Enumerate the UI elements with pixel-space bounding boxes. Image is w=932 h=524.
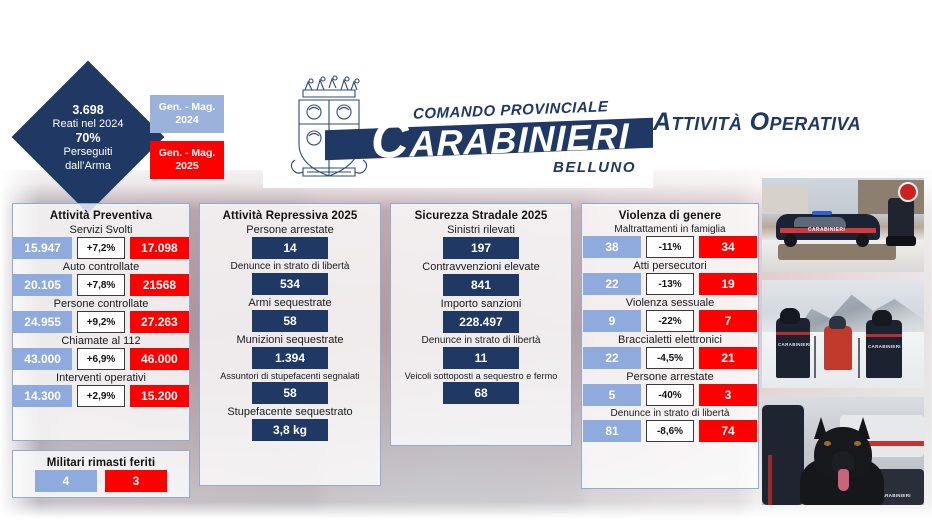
value-percent: -11% — [646, 236, 694, 258]
row-label: Auto controllate — [13, 261, 189, 273]
value-previous: 9 — [583, 310, 641, 332]
table-row: 20.105 +7,8% 21568 — [13, 274, 189, 296]
row-label: Denunce in strato di libertà — [391, 335, 571, 346]
backdrop-fade-bottom — [0, 502, 932, 524]
value-previous: 4 — [35, 470, 97, 492]
panel-attivita-repressiva: Attività Repressiva 2025 Persone arresta… — [199, 203, 381, 486]
value-current: 17.098 — [130, 237, 189, 259]
photo-dog-tongue — [838, 469, 849, 491]
value-percent: -4,5% — [646, 347, 694, 369]
logo-rest: ARABINIERI — [410, 115, 630, 164]
table-row: 22 -4,5% 21 — [582, 347, 758, 369]
value-current: 534 — [252, 273, 328, 295]
row-label: Persone controllate — [13, 298, 189, 310]
value-current: 3 — [105, 470, 167, 492]
table-row: 841 — [391, 274, 571, 296]
photo-skier-red — [824, 326, 852, 370]
table-row: 14.300 +2,9% 15.200 — [13, 385, 189, 407]
panel-militari-feriti: Militari rimasti feriti 4 3 — [12, 450, 190, 498]
legend-previous-period: Gen. - Mag. 2024 — [150, 95, 224, 133]
value-current: 14 — [252, 237, 328, 259]
table-row: 534 — [200, 273, 380, 295]
photo-officer-helmet — [872, 310, 892, 326]
value-current: 3,8 kg — [252, 419, 328, 441]
value-previous: 5 — [583, 384, 641, 406]
row-label: Maltrattamenti in famiglia — [582, 224, 758, 235]
photo-officer-stripe — [776, 332, 810, 335]
panel-violenza-di-genere: Violenza di genere Maltrattamenti in fam… — [581, 203, 759, 489]
value-current: 58 — [252, 382, 328, 404]
row-label: Violenza sessuale — [582, 297, 758, 309]
carabinieri-logo-card: COMANDO PROVINCIALE CARABINIERI BELLUNO — [263, 66, 653, 188]
value-current: 7 — [699, 310, 757, 332]
table-row: 3,8 kg — [200, 419, 380, 441]
panel-attivita-preventiva: Attività Preventiva Servizi Svolti 15.94… — [12, 203, 190, 441]
value-current: 15.200 — [130, 385, 189, 407]
value-current: 58 — [252, 310, 328, 332]
value-previous: 43.000 — [13, 348, 72, 370]
photo-jacket-tag: CARABINIERI — [868, 344, 901, 349]
row-label: Braccialetti elettronici — [582, 334, 758, 346]
row-label: Stupefacente sequestrato — [200, 406, 380, 418]
value-current: 841 — [443, 274, 519, 296]
table-row: 197 — [391, 237, 571, 259]
photo-handler-stripe — [768, 455, 772, 505]
table-row: 5 -40% 3 — [582, 384, 758, 406]
photo-car-wheel — [856, 234, 869, 247]
value-current: 74 — [699, 420, 757, 442]
value-percent: -13% — [646, 273, 694, 295]
row-label: Denunce in strato di libertà — [582, 408, 758, 419]
value-current: 46.000 — [130, 348, 189, 370]
value-percent: -8,6% — [646, 420, 694, 442]
photo-officer-left — [776, 318, 810, 378]
panel-title: Attività Repressiva 2025 — [200, 210, 380, 222]
panel-title: Violenza di genere — [582, 210, 758, 222]
table-row: 15.947 +7,2% 17.098 — [13, 237, 189, 259]
photo-officer-helmet — [780, 308, 800, 324]
table-row: 11 — [391, 347, 571, 369]
table-row: 4 3 — [13, 470, 189, 492]
photo-officer-stripe — [866, 334, 902, 337]
value-previous: 38 — [583, 236, 641, 258]
row-label: Denunce in strato di libertà — [200, 261, 380, 272]
value-previous: 20.105 — [13, 274, 72, 296]
row-label: Interventi operativi — [13, 372, 189, 384]
photo-car-lightbar — [812, 211, 832, 215]
logo-subtitle: BELLUNO — [553, 159, 636, 176]
row-label: Armi sequestrate — [200, 297, 380, 309]
row-label: Persone arrestate — [582, 371, 758, 383]
table-row: 58 — [200, 310, 380, 332]
row-label: Veicoli sottoposti a sequestro e fermo — [391, 371, 571, 381]
logo-initial: C — [371, 110, 410, 169]
value-current: 228.497 — [443, 311, 519, 333]
value-current: 27.263 — [130, 311, 189, 333]
photo-slab — [778, 244, 896, 260]
value-current: 1.394 — [252, 347, 328, 369]
panel-sicurezza-stradale: Sicurezza Stradale 2025 Sinistri rilevat… — [390, 203, 572, 446]
infographic-canvas: 3.698 Reati nel 2024 70% Perseguiti dall… — [0, 0, 932, 524]
photo-car-text: CARABINIERI — [808, 227, 845, 233]
legend-current-period: Gen. - Mag. 2025 — [150, 141, 224, 179]
photo-dog-eye — [824, 441, 831, 446]
legend-previous-line2: 2024 — [175, 114, 198, 126]
photo-car-window — [794, 217, 846, 227]
row-label: Sinistri rilevati — [391, 224, 571, 236]
table-row: 14 — [200, 237, 380, 259]
photo-car-wheel — [784, 234, 797, 247]
value-previous: 22 — [583, 273, 641, 295]
row-label: Persone arrestate — [200, 224, 380, 236]
value-percent: +6,9% — [77, 348, 124, 370]
photo-jacket-tag: CARABINIERI — [778, 342, 811, 347]
value-percent: +7,8% — [77, 274, 124, 296]
photo-dog-eye — [854, 441, 861, 446]
value-current: 68 — [443, 382, 519, 404]
photo-officer-boots — [886, 236, 916, 246]
photo-officer-right — [866, 320, 902, 378]
row-label: Munizioni sequestrate — [200, 334, 380, 346]
value-current: 21 — [699, 347, 757, 369]
table-row: 68 — [391, 382, 571, 404]
table-row: 1.394 — [200, 347, 380, 369]
value-current: 3 — [699, 384, 757, 406]
period-legend: Gen. - Mag. 2024 Gen. - Mag. 2025 — [150, 95, 224, 179]
table-row: 58 — [200, 382, 380, 404]
legend-current-line2: 2025 — [175, 160, 198, 172]
value-previous: 22 — [583, 347, 641, 369]
row-label: Chiamate al 112 — [13, 335, 189, 347]
value-current: 34 — [699, 236, 757, 258]
value-current: 11 — [443, 347, 519, 369]
photo-ski-pole — [814, 336, 816, 378]
value-current: 197 — [443, 237, 519, 259]
table-row: 43.000 +6,9% 46.000 — [13, 348, 189, 370]
table-row: 38 -11% 34 — [582, 236, 758, 258]
panel-title: Sicurezza Stradale 2025 — [391, 210, 571, 222]
value-percent: -40% — [646, 384, 694, 406]
page-title: Attività Operativa — [653, 108, 861, 137]
row-label: Atti persecutori — [582, 260, 758, 272]
photo-k9-dog: CARABINIERI — [762, 397, 924, 505]
photo-patrol-car: CARABINIERI — [762, 178, 924, 272]
table-row: 24.955 +9,2% 27.263 — [13, 311, 189, 333]
panel-title: Militari rimasti feriti — [13, 457, 189, 469]
photo-skier-helmet — [829, 316, 846, 329]
value-percent: +2,9% — [77, 385, 124, 407]
photo-ski-pole — [858, 338, 860, 378]
row-label: Contravvenzioni elevate — [391, 261, 571, 273]
table-row: 81 -8,6% 74 — [582, 420, 758, 442]
photo-building-left — [762, 186, 808, 214]
value-percent: +9,2% — [77, 311, 124, 333]
value-current: 19 — [699, 273, 757, 295]
value-percent: -22% — [646, 310, 694, 332]
value-current: 21568 — [130, 274, 189, 296]
value-previous: 15.947 — [13, 237, 72, 259]
value-previous: 81 — [583, 420, 641, 442]
value-percent: +7,2% — [77, 237, 124, 259]
panel-title: Attività Preventiva — [13, 210, 189, 222]
row-label: Servizi Svolti — [13, 224, 189, 236]
row-label: Assuntori di stupefacenti segnalati — [200, 371, 380, 381]
photo-alpine-patrol: CARABINIERI CARABINIERI — [762, 280, 924, 388]
row-label: Importo sanzioni — [391, 298, 571, 310]
value-previous: 14.300 — [13, 385, 72, 407]
legend-previous-line1: Gen. - Mag. — [159, 101, 216, 113]
table-row: 228.497 — [391, 311, 571, 333]
table-row: 22 -13% 19 — [582, 273, 758, 295]
photo-road-sign — [898, 182, 918, 202]
legend-current-line1: Gen. - Mag. — [159, 147, 216, 159]
value-previous: 24.955 — [13, 311, 72, 333]
table-row: 9 -22% 7 — [582, 310, 758, 332]
